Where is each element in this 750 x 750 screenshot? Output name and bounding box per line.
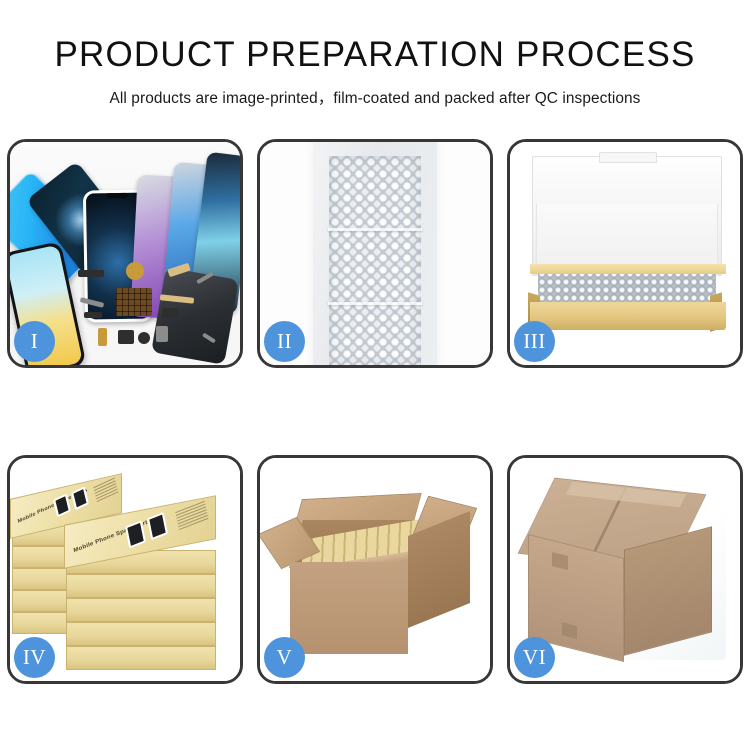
part-screwdriver	[196, 272, 214, 284]
carton-front-face	[290, 562, 408, 654]
step-2-image: II	[260, 142, 490, 365]
bubble-wrap-seam-bottom	[328, 302, 422, 305]
step-badge-1: I	[14, 321, 55, 362]
part-ribbon	[160, 294, 194, 304]
page-title: PRODUCT PREPARATION PROCESS	[0, 36, 750, 75]
spare-parts-flatlay	[72, 260, 230, 359]
kraft-box-front-3	[66, 598, 216, 622]
step-badge-2: II	[264, 321, 305, 362]
part-button	[84, 312, 102, 318]
process-step-panel-5: V	[257, 455, 493, 684]
kraft-box-front-5	[66, 646, 216, 670]
step-badge-3: III	[514, 321, 555, 362]
product-preparation-infographic: PRODUCT PREPARATION PROCESS All products…	[0, 0, 750, 750]
notch-icon	[106, 193, 128, 198]
header: PRODUCT PREPARATION PROCESS All products…	[0, 0, 750, 108]
kraft-box-window-2b	[147, 512, 168, 540]
part-vibrator	[138, 332, 150, 344]
step-badge-4: IV	[14, 637, 55, 678]
step-5-image: V	[260, 458, 490, 681]
part-flex-cable	[167, 263, 190, 277]
process-step-panel-4: Mobile Phone Spare Parts Mobile Phone Sp…	[7, 455, 243, 684]
kraft-box-spec-lines-2	[175, 501, 208, 532]
process-step-panel-6: VI	[507, 455, 743, 684]
kraft-box-front-2	[66, 574, 216, 598]
part-sim-tray	[156, 326, 168, 342]
inner-box-rim	[530, 264, 726, 274]
kraft-box-spec-lines-1	[93, 478, 118, 505]
step-3-image: III	[510, 142, 740, 365]
part-bracket	[80, 297, 104, 308]
part-battery-pin	[98, 328, 107, 346]
process-step-grid: I II II	[7, 139, 743, 684]
part-connector	[78, 270, 104, 277]
step-badge-6: VI	[514, 637, 555, 678]
part-speaker	[126, 262, 144, 280]
kraft-box-front-4	[66, 622, 216, 646]
process-step-panel-2: II	[257, 139, 493, 368]
part-chip-array	[116, 288, 152, 316]
page-subtitle: All products are image-printed，film-coat…	[0, 86, 750, 108]
step-6-image: VI	[510, 458, 740, 681]
part-ic	[162, 308, 178, 318]
process-step-panel-3: III	[507, 139, 743, 368]
step-1-image: I	[10, 142, 240, 365]
bubble-wrap-seam-top	[328, 228, 422, 231]
inner-box-bubble-contents	[538, 270, 716, 304]
bubble-wrap-bubbles	[329, 156, 421, 365]
process-step-panel-1: I	[7, 139, 243, 368]
step-badge-5: V	[264, 637, 305, 678]
step-4-image: Mobile Phone Spare Parts Mobile Phone Sp…	[10, 458, 240, 681]
part-camera-module	[118, 330, 134, 344]
part-tweezers	[202, 333, 216, 344]
inner-box-front-panel	[530, 302, 726, 330]
